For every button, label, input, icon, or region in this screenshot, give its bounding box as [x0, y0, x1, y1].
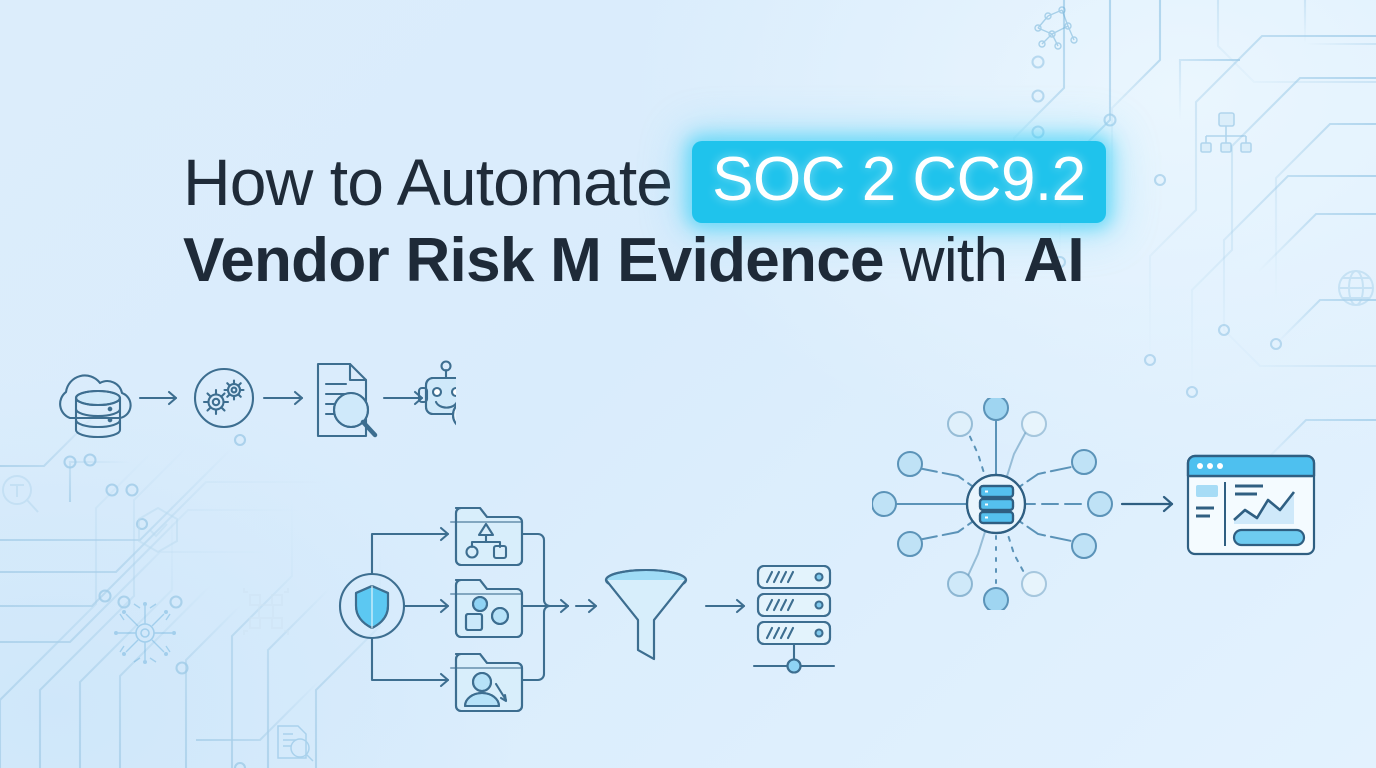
shield-circle-icon	[340, 574, 404, 638]
folder-hierarchy-icon	[451, 508, 522, 565]
circuit-traces-bottom-left	[0, 410, 380, 768]
snowflake-hub-icon	[114, 602, 176, 664]
arrow-right-icon	[140, 392, 176, 404]
network-nodes-icon	[1035, 7, 1077, 49]
document-magnifier-icon	[318, 364, 375, 436]
vendor-risk-evidence-flow	[330, 488, 850, 728]
headline-prefix-text: How to Automate	[183, 149, 672, 215]
soc2-control-badge: SOC 2 CC9.2	[692, 141, 1106, 222]
network-spokes	[890, 414, 1094, 594]
arrow-right-icon	[706, 600, 744, 612]
branch-connectors-left	[372, 528, 448, 686]
headline-bold-evidence: Evidence	[617, 230, 884, 292]
headline-light-with: with	[900, 230, 1007, 292]
arrow-right-icon	[264, 392, 302, 404]
arrow-right-icon	[384, 392, 422, 404]
circuit-nodes-bottom-left	[65, 435, 246, 768]
network-nodes	[872, 398, 1112, 610]
document-search-icon	[278, 726, 313, 761]
folder-user-icon	[451, 654, 522, 711]
server-rack-icon	[754, 566, 834, 673]
hero-banner: How to Automate SOC 2 CC9.2 Vendor Risk …	[0, 0, 1376, 768]
robot-check-icon	[419, 362, 456, 430]
magnifier-icon	[3, 476, 38, 512]
page-title: How to Automate SOC 2 CC9.2 Vendor Risk …	[183, 138, 1263, 314]
headline-line-2: Vendor Risk M Evidence with AI	[183, 230, 1263, 314]
qr-frame-icon	[244, 588, 288, 635]
headline-line-1: How to Automate SOC 2 CC9.2	[183, 138, 1263, 226]
folder-shapes-icon	[451, 580, 522, 637]
gears-circle-icon	[195, 369, 253, 427]
globe-icon	[1339, 271, 1373, 305]
headline-bold-ai: AI	[1023, 230, 1084, 292]
funnel-icon	[606, 570, 686, 659]
cloud-database-icon	[60, 375, 130, 437]
arrow-right-icon	[1122, 497, 1172, 511]
vendor-network-to-dashboard	[872, 398, 1320, 610]
headline-bold-vendor-risk: Vendor Risk M	[183, 230, 601, 292]
hexagon-check-icon	[139, 508, 177, 552]
database-hub-icon	[967, 475, 1025, 533]
dashboard-window-icon	[1188, 456, 1314, 554]
circuit-decoration-layer	[0, 0, 1376, 768]
branch-connectors-right	[522, 534, 596, 680]
evidence-collection-pipeline	[36, 352, 456, 462]
